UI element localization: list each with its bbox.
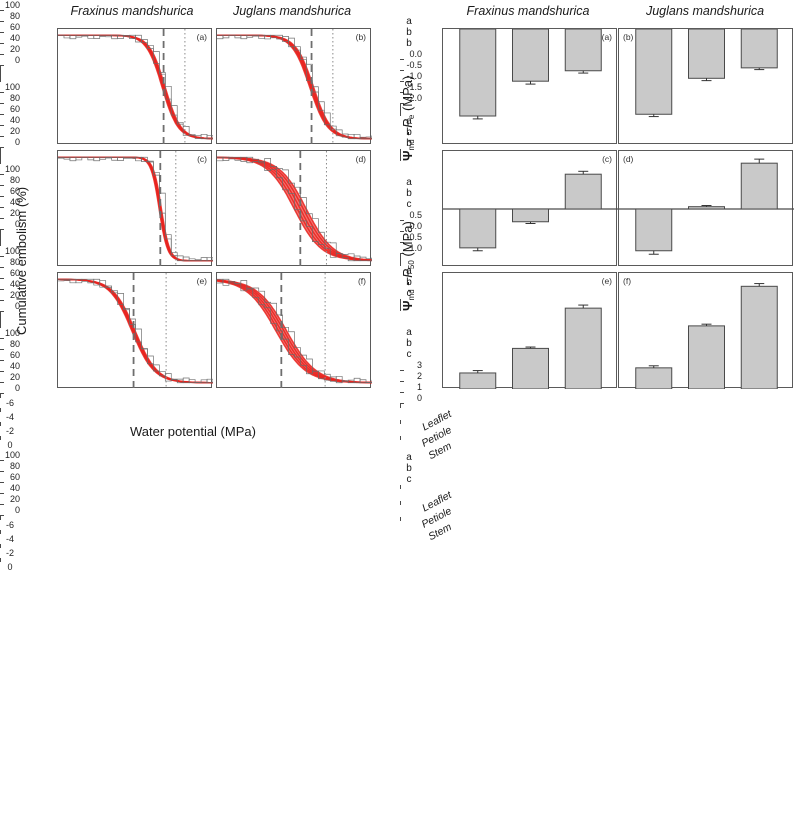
right-x-tick-mark xyxy=(400,485,401,489)
left-x-tick-label: -6 xyxy=(0,520,20,530)
significance-letter: c xyxy=(400,474,418,485)
left-x-tick-label: -2 xyxy=(0,548,20,558)
left-y-tick-label: 80 xyxy=(0,461,20,471)
left-y-tick-label: 40 xyxy=(0,483,20,493)
left-y-tick-label: 100 xyxy=(0,450,20,460)
left-x-tick-label: 0 xyxy=(0,562,20,572)
left-y-tick-label: 60 xyxy=(0,472,20,482)
right-x-tick-mark xyxy=(400,501,401,505)
left-x-tick-label: -4 xyxy=(0,534,20,544)
right-x-tick-mark xyxy=(400,517,401,521)
organ-row-labels: LeafletPetioleStem xyxy=(0,0,800,445)
left-y-tick-label: 20 xyxy=(0,494,20,504)
left-y-tick-label: 0 xyxy=(0,505,20,515)
figure-root: Fraxinus mandshurica Juglans mandshurica… xyxy=(0,0,800,445)
